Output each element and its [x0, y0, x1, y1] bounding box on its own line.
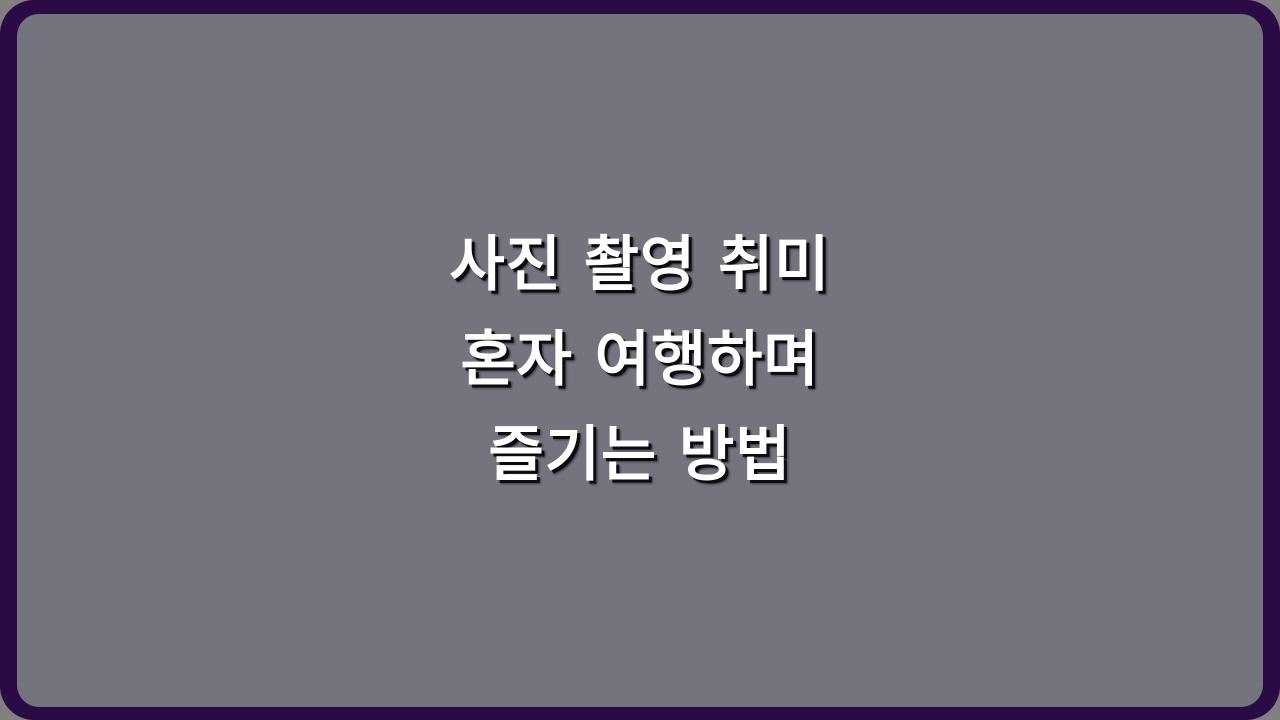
headline-line-1: 사진 촬영 취미 — [450, 218, 831, 313]
headline-line-2: 혼자 여행하며 — [460, 313, 819, 408]
card-border-frame: 사진 촬영 취미 혼자 여행하며 즐기는 방법 — [0, 0, 1280, 720]
headline-line-3: 즐기는 방법 — [489, 408, 792, 503]
card-inner-panel: 사진 촬영 취미 혼자 여행하며 즐기는 방법 — [17, 14, 1263, 707]
page-background: 사진 촬영 취미 혼자 여행하며 즐기는 방법 — [0, 0, 1280, 720]
headline-block: 사진 촬영 취미 혼자 여행하며 즐기는 방법 — [17, 218, 1263, 503]
